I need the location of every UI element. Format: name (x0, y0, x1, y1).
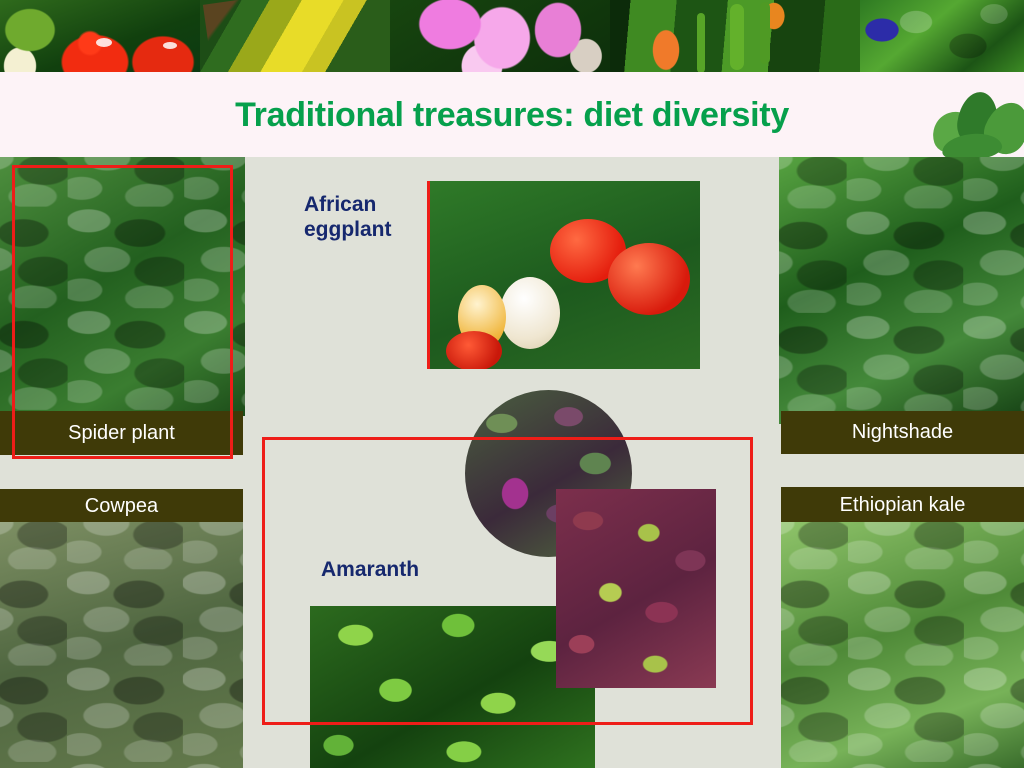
banner-segment-pink-flowers (390, 0, 610, 72)
image-cowpea (0, 522, 243, 768)
caption-ethiopian-kale: Ethiopian kale (781, 487, 1024, 523)
highlight-box-spider-plant (12, 165, 233, 459)
image-ethiopian-kale (781, 522, 1024, 768)
image-african-eggplant (427, 181, 700, 369)
eggplant-fruit-red-2 (608, 243, 690, 315)
banner-segment-green-pods (610, 0, 860, 72)
page-title: Traditional treasures: diet diversity (0, 96, 1024, 135)
banner-segment-yellow-green-leaves (200, 0, 390, 72)
eggplant-fruit-white (500, 277, 560, 349)
caption-cowpea: Cowpea (0, 489, 243, 523)
slide-canvas: Traditional treasures: diet diversity Sp… (0, 0, 1024, 768)
image-nightshade (779, 157, 1024, 424)
vegetable-photo-strip (0, 0, 1024, 72)
eggplant-fruit-red-3 (446, 331, 502, 369)
caption-nightshade: Nightshade (781, 411, 1024, 454)
banner-segment-green-leaves (860, 0, 1024, 72)
banner-segment-tomatoes-peppers (0, 0, 200, 72)
label-african-eggplant-line1: African (304, 192, 392, 217)
label-african-eggplant-line2: eggplant (304, 217, 392, 242)
label-african-eggplant: African eggplant (304, 192, 392, 242)
highlight-box-amaranth (262, 437, 753, 725)
